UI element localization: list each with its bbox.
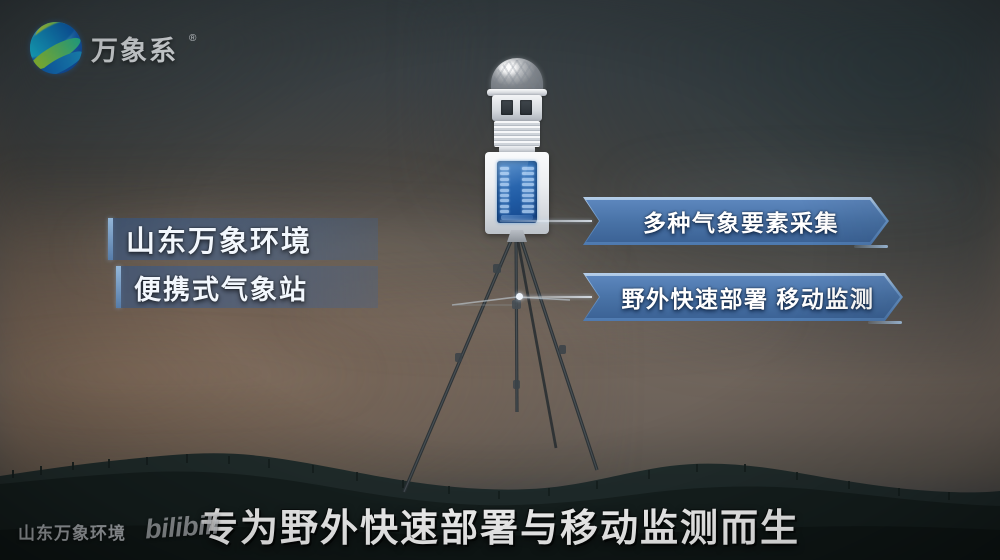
ultrasonic-sensor-head <box>492 95 542 121</box>
crystal-dome-icon <box>491 58 543 92</box>
callout-2-tail <box>868 321 902 324</box>
callout-anchor-node <box>516 293 523 300</box>
callout-1-label: 多种气象要素采集 <box>586 200 886 242</box>
globe-swirl-logo-icon <box>30 22 82 74</box>
registered-mark: ® <box>189 33 196 44</box>
brand-logo-text: 万象系 <box>91 29 178 68</box>
radiation-shield-ribs <box>494 121 540 147</box>
brand-logo: 万象系 ® <box>30 22 196 74</box>
overlay-line-1: 山东万象环境 <box>108 218 378 260</box>
callout-2-label: 野外快速部署 移动监测 <box>586 276 900 318</box>
watermark-platform: bilibili <box>144 509 220 545</box>
video-frame: 万象系 ® 山东万象环境 便携式气象站 多种气象要素采集 野外快速部署 移动监测… <box>0 0 1000 560</box>
callout-1: 多种气象要素采集 <box>586 200 886 242</box>
sensor-aperture <box>501 100 513 115</box>
callout-2: 野外快速部署 移动监测 <box>586 276 900 318</box>
overlay-line-2-text: 便携式气象站 <box>116 268 308 307</box>
callout-leader-line-2 <box>520 296 592 298</box>
lcd-display <box>497 161 537 223</box>
left-title-overlay: 山东万象环境 便携式气象站 <box>108 218 378 314</box>
callout-1-tail <box>854 245 888 248</box>
dome-facets <box>493 60 541 90</box>
sensor-aperture <box>520 100 532 115</box>
portable-weather-station <box>463 58 569 238</box>
callout-leader-line-1 <box>500 220 592 222</box>
watermark-brand: 山东万象环境 <box>18 519 126 544</box>
overlay-line-2: 便携式气象站 <box>116 266 378 308</box>
overlay-line-1-text: 山东万象环境 <box>108 218 312 260</box>
